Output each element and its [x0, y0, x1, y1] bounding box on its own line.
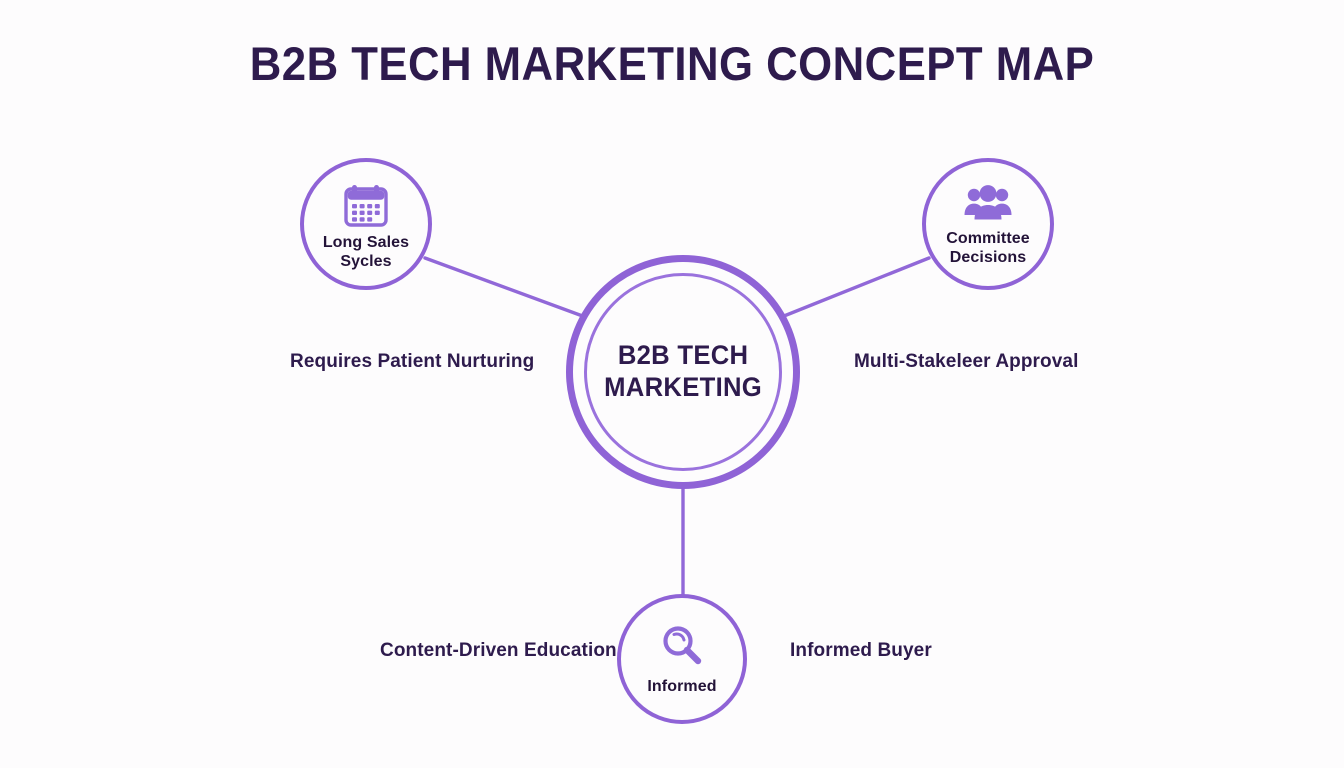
node-committee-decisions-label: Committee Decisions [946, 230, 1030, 267]
node-long-sales-sycles-label-line1: Long Sales [323, 234, 409, 253]
node-committee-decisions-label-line2: Decisions [946, 249, 1030, 268]
people-group-icon [964, 184, 1012, 224]
center-node-label-line2: MARKETING [604, 372, 762, 404]
node-informed[interactable]: Informed [617, 594, 747, 724]
concept-map-canvas: B2B TECH MARKETING CONCEPT MAP B2B TECH … [0, 0, 1344, 768]
page-title: B2B TECH MARKETING CONCEPT MAP [47, 36, 1297, 91]
center-node-inner-ring: B2B TECH MARKETING [584, 273, 782, 471]
node-long-sales-sycles[interactable]: Long Sales Sycles [300, 158, 432, 290]
edge-label-informed-buyer: Informed Buyer [790, 640, 932, 662]
node-informed-label-line1: Informed [647, 678, 716, 697]
node-long-sales-sycles-label-line2: Sycles [323, 253, 409, 272]
edge-label-requires-patient-nurturing: Requires Patient Nurturing [290, 351, 534, 373]
node-committee-decisions-label-line1: Committee [946, 230, 1030, 249]
magnifier-icon [660, 624, 704, 668]
center-node-label: B2B TECH MARKETING [604, 340, 762, 404]
center-node-label-line1: B2B TECH [604, 340, 762, 372]
center-node[interactable]: B2B TECH MARKETING [566, 255, 800, 489]
node-informed-label: Informed [647, 678, 716, 697]
calendar-icon [343, 184, 389, 228]
node-committee-decisions[interactable]: Committee Decisions [922, 158, 1054, 290]
node-long-sales-sycles-label: Long Sales Sycles [323, 234, 409, 271]
connector-center-to-committee [779, 258, 929, 318]
connector-center-to-long-sales [425, 258, 588, 318]
edge-label-content-driven-education: Content-Driven Education [380, 640, 617, 662]
edge-label-multi-stakeleer-approval: Multi-Stakeleer Approval [854, 351, 1078, 373]
